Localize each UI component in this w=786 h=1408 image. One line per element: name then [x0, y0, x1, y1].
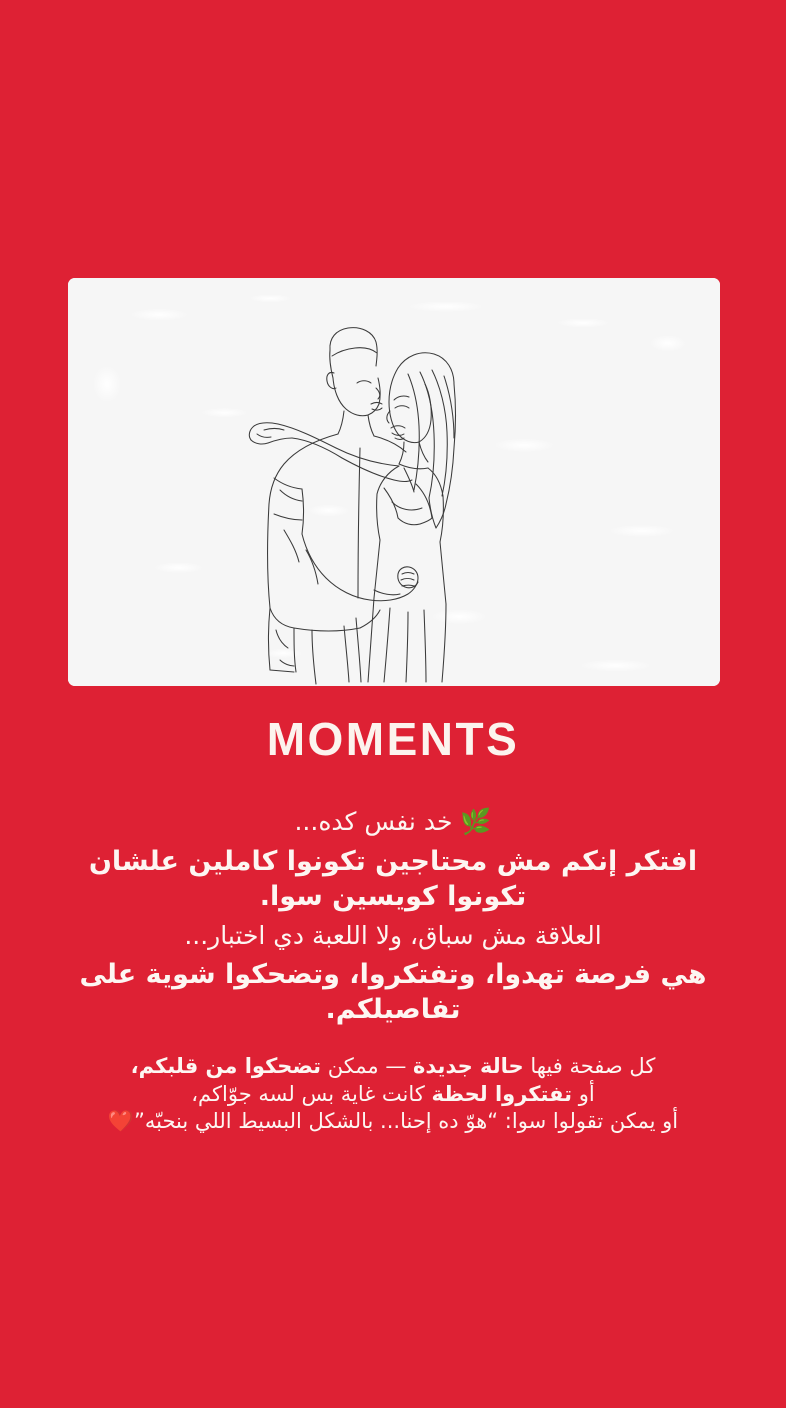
emphasis-run: تفتكروا لحظة [431, 1082, 572, 1106]
text-run: كل صفحة فيها [524, 1054, 656, 1078]
small-paragraph: كل صفحة فيها حالة جديدة — ممكن تضحكوا من… [60, 1053, 726, 1135]
small-line: أو يمكن تقولوا سوا: “هوّ ده إحنا... بالش… [60, 1108, 726, 1135]
page-title: MOMENTS [0, 716, 786, 762]
body-copy: 🌿 خد نفس كده... افتكر إنكم مش محتاجين تك… [60, 806, 726, 1135]
text-run: ❤️ [108, 1109, 134, 1133]
couple-embrace-line-art-icon [68, 278, 720, 686]
intro-line: 🌿 خد نفس كده... [60, 806, 726, 839]
small-line: أو تفتكروا لحظة كانت غاية بس لسه جوّاكم، [60, 1081, 726, 1108]
intro-line-text: خد نفس كده... [294, 807, 452, 836]
small-line: كل صفحة فيها حالة جديدة — ممكن تضحكوا من… [60, 1053, 726, 1080]
text-run: — ممكن [321, 1054, 413, 1078]
lead-line: افتكر إنكم مش محتاجين تكونوا كاملين علشا… [60, 844, 726, 914]
emphasis-run: تضحكوا من قلبكم، [131, 1054, 321, 1078]
herb-icon: 🌿 [460, 807, 491, 836]
emphasis-run: حالة جديدة [413, 1054, 524, 1078]
sub-line-2: هي فرصة تهدوا، وتفتكروا، وتضحكوا شوية عل… [60, 957, 726, 1027]
text-run: كانت غاية بس لسه جوّاكم، [191, 1082, 431, 1106]
illustration-card [68, 278, 720, 686]
text-run: أو [572, 1082, 595, 1106]
poster-canvas: MOMENTS 🌿 خد نفس كده... افتكر إنكم مش مح… [0, 0, 786, 1408]
text-run: أو يمكن تقولوا سوا: “هوّ ده إحنا... بالش… [134, 1109, 678, 1133]
sub-line: العلاقة مش سباق، ولا اللعبة دي اختبار... [60, 920, 726, 953]
